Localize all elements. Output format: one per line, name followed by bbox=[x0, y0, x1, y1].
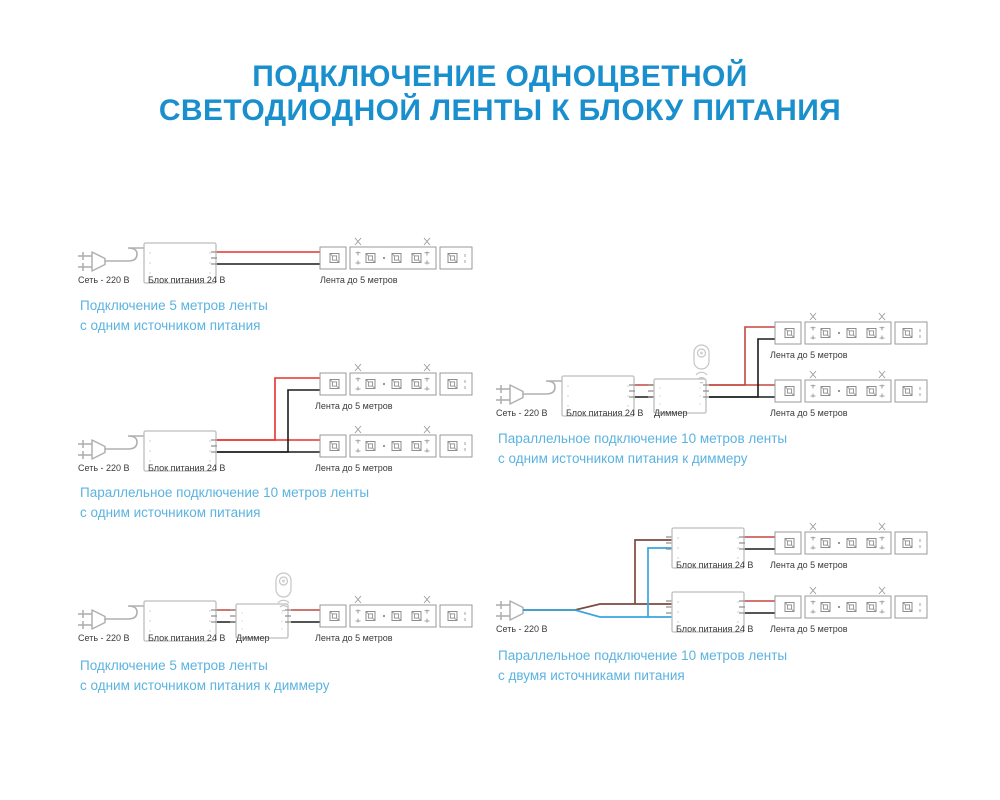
led-strip bbox=[775, 587, 927, 618]
wire-neutral-blue-main bbox=[523, 610, 672, 617]
wire-negative-upper bbox=[217, 390, 320, 452]
caption-line-1: Подключение 5 метров ленты bbox=[80, 658, 268, 673]
label-psu: Блок питания 24 В bbox=[676, 560, 753, 570]
label-psu: Блок питания 24 В bbox=[148, 463, 225, 473]
diagram-3-single-strip-with-dimmer: Сеть - 220 В Блок питания 24 В Диммер Ле… bbox=[78, 573, 472, 693]
label-dimmer: Диммер bbox=[654, 408, 688, 418]
caption-line-2: с одним источником питания к диммеру bbox=[498, 451, 748, 466]
diagram-2-parallel-two-strips-one-psu: Лента до 5 метров Сеть - 220 В Блок пита… bbox=[78, 364, 472, 520]
label-psu: Блок питания 24 В bbox=[566, 408, 643, 418]
label-mains: Сеть - 220 В bbox=[78, 463, 130, 473]
label-mains: Сеть - 220 В bbox=[78, 275, 130, 285]
mains-plug-icon bbox=[78, 610, 105, 629]
dimmer-input-terminals bbox=[648, 385, 654, 397]
label-psu: Блок питания 24 В bbox=[148, 633, 225, 643]
led-strip bbox=[320, 364, 472, 395]
mains-plug-icon bbox=[496, 385, 523, 404]
psu-input-terminals bbox=[666, 601, 672, 613]
led-strip bbox=[320, 238, 472, 269]
caption-line-2: с одним источником питания bbox=[80, 318, 260, 333]
led-strip bbox=[775, 371, 927, 402]
caption-line-1: Параллельное подключение 10 метров ленты bbox=[498, 431, 787, 446]
label-strip: Лента до 5 метров bbox=[315, 463, 393, 473]
wire-negative-upper bbox=[709, 339, 775, 397]
wire-positive-upper bbox=[217, 378, 320, 440]
led-strip bbox=[775, 523, 927, 554]
led-strip bbox=[320, 596, 472, 627]
remote-control-icon bbox=[694, 345, 709, 383]
diagram-1-single-strip-single-psu: Сеть - 220 В Блок питания 24 В Лента до … bbox=[78, 238, 472, 333]
dimmer-input-terminals bbox=[230, 610, 236, 622]
wire-positive-upper bbox=[709, 327, 775, 385]
label-strip: Лента до 5 метров bbox=[315, 633, 393, 643]
label-mains: Сеть - 220 В bbox=[78, 633, 130, 643]
mains-plug-icon bbox=[78, 440, 105, 459]
mains-cable bbox=[105, 248, 144, 261]
label-strip: Лента до 5 метров bbox=[770, 408, 848, 418]
mains-cable bbox=[523, 381, 562, 394]
mains-cable bbox=[105, 436, 144, 449]
caption-line-1: Параллельное подключение 10 метров ленты bbox=[80, 485, 369, 500]
wire-live-brown-main bbox=[523, 604, 672, 610]
diagram-4-parallel-two-strips-with-dimmer: Лента до 5 метров Сеть - 220 В Блок пита… bbox=[496, 313, 927, 466]
led-strip bbox=[320, 426, 472, 457]
caption-line-1: Подключение 5 метров ленты bbox=[80, 298, 268, 313]
label-strip: Лента до 5 метров bbox=[315, 401, 393, 411]
label-dimmer: Диммер bbox=[236, 633, 270, 643]
caption-line-2: с двумя источниками питания bbox=[498, 668, 685, 683]
diagram-page: ПОДКЛЮЧЕНИЕ ОДНОЦВЕТНОЙ СВЕТОДИОДНОЙ ЛЕН… bbox=[0, 0, 1000, 800]
caption-line-1: Параллельное подключение 10 метров ленты bbox=[498, 648, 787, 663]
caption-line-2: с одним источником питания bbox=[80, 505, 260, 520]
mains-plug-icon bbox=[496, 601, 523, 620]
mains-cable bbox=[105, 606, 144, 619]
caption-line-2: с одним источником питания к диммеру bbox=[80, 678, 330, 693]
led-strip bbox=[775, 313, 927, 344]
label-mains: Сеть - 220 В bbox=[496, 408, 548, 418]
label-strip: Лента до 5 метров bbox=[770, 350, 848, 360]
label-strip: Лента до 5 метров bbox=[770, 624, 848, 634]
diagram-5-parallel-two-strips-two-psus: Лента до 5 метров Блок питания 24 В Сеть… bbox=[496, 523, 927, 683]
label-psu: Блок питания 24 В bbox=[676, 624, 753, 634]
label-mains: Сеть - 220 В bbox=[496, 624, 548, 634]
label-strip: Лента до 5 метров bbox=[320, 275, 398, 285]
label-psu: Блок питания 24 В bbox=[148, 275, 225, 285]
mains-plug-icon bbox=[78, 252, 105, 271]
label-strip: Лента до 5 метров bbox=[770, 560, 848, 570]
